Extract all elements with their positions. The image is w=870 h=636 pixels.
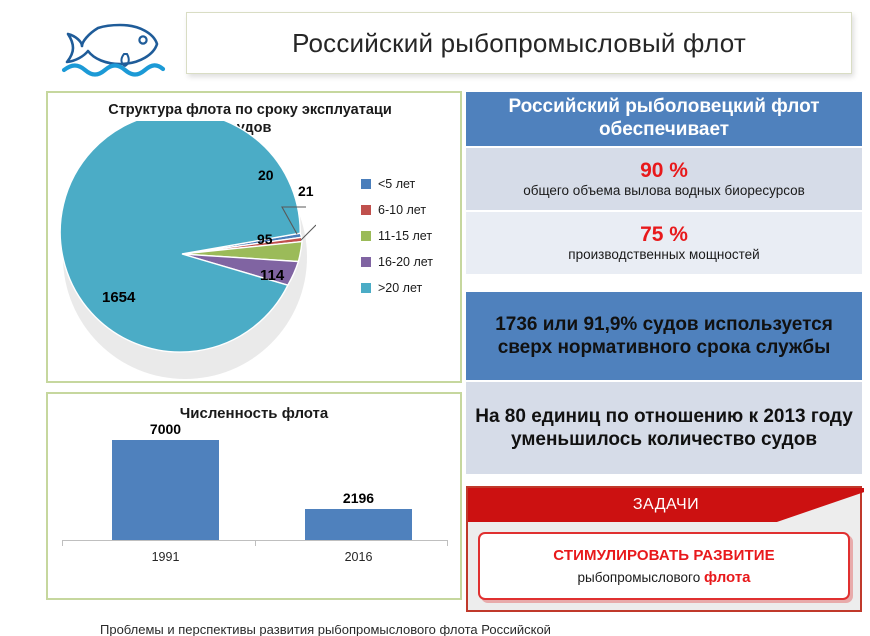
bar-chart-plot: 7000 1991 2196 2016 <box>62 434 448 564</box>
bar-chart-title: Численность флота <box>48 405 460 422</box>
tasks-sub-bold: флота <box>704 569 751 586</box>
pie-slice-label-under5: 20 <box>258 167 274 183</box>
legend-label: >20 лет <box>378 281 422 295</box>
tasks-main-label: СТИМУЛИРОВАТЬ РАЗВИТИЕ <box>553 547 774 564</box>
stat-panel-production-capacity: 75 % производственных мощностей <box>466 212 862 274</box>
axis-tick <box>447 540 448 546</box>
axis-tick <box>62 540 63 546</box>
tasks-sub-label: рыбопромыслового флота <box>577 569 750 586</box>
axis-tick <box>255 540 256 546</box>
bar-value-1991: 7000 <box>112 421 219 437</box>
legend-item-16-20: 16-20 лет <box>361 249 461 275</box>
footer-cut-label: Проблемы и перспективы развития рыбопром… <box>100 625 551 636</box>
bar-category-2016: 2016 <box>305 550 412 564</box>
legend-item-under5: <5 лет <box>361 171 461 197</box>
right-headline-panel: Российский рыболовецкий флот обеспечивае… <box>466 92 862 146</box>
bar-2016 <box>305 509 412 540</box>
legend-label: <5 лет <box>378 177 415 191</box>
page-title: Российский рыбопромысловый флот <box>292 28 746 59</box>
tasks-sub-plain: рыбопромыслового <box>577 570 703 585</box>
legend-item-over20: >20 лет <box>361 275 461 301</box>
pie-chart-card: Структура флота по сроку эксплуатаци суд… <box>46 91 462 383</box>
stat-caption: общего объема вылова водных биоресурсов <box>523 183 805 199</box>
legend-item-11-15: 11-15 лет <box>361 223 461 249</box>
pie-slice-label-6-10: 21 <box>298 183 314 199</box>
bar-category-1991: 1991 <box>112 550 219 564</box>
tasks-content-box: СТИМУЛИРОВАТЬ РАЗВИТИЕ рыбопромыслового … <box>478 532 850 600</box>
stat-percent: 75 % <box>640 223 688 247</box>
fact-panel-overage-vessels: 1736 или 91,9% судов используется сверх … <box>466 292 862 380</box>
pie-chart-legend: <5 лет 6-10 лет 11-15 лет 16-20 лет >20 … <box>361 171 461 301</box>
legend-swatch-icon <box>361 205 371 215</box>
bar-1991 <box>112 440 219 540</box>
page-header: Российский рыбопромысловый флот <box>0 0 870 86</box>
fish-logo-icon <box>58 14 170 80</box>
pie-slice-label-over20: 1654 <box>102 289 135 306</box>
fact-panel-fleet-reduction: На 80 единиц по отношению к 2013 году ум… <box>466 382 862 474</box>
pie-slice-label-11-15: 95 <box>257 231 273 247</box>
stat-caption: производственных мощностей <box>568 247 759 263</box>
footer-cut-text: Проблемы и перспективы развития рыбопром… <box>0 625 870 636</box>
legend-swatch-icon <box>361 283 371 293</box>
bar-value-2016: 2196 <box>305 490 412 506</box>
legend-swatch-icon <box>361 257 371 267</box>
tasks-card: ЗАДАЧИ СТИМУЛИРОВАТЬ РАЗВИТИЕ рыбопромыс… <box>466 486 862 612</box>
stat-percent: 90 % <box>640 159 688 183</box>
legend-label: 16-20 лет <box>378 255 433 269</box>
page-title-box: Российский рыбопромысловый флот <box>186 12 852 74</box>
pie-chart-graphic: 1654 114 95 21 20 <box>54 121 316 383</box>
legend-swatch-icon <box>361 231 371 241</box>
pie-slice-label-16-20: 114 <box>260 267 284 284</box>
legend-label: 6-10 лет <box>378 203 426 217</box>
stat-panel-catch-volume: 90 % общего объема вылова водных биоресу… <box>466 148 862 210</box>
legend-item-6-10: 6-10 лет <box>361 197 461 223</box>
bar-chart-card: Численность флота 7000 1991 2196 2016 <box>46 392 462 600</box>
tasks-banner-label: ЗАДАЧИ <box>468 488 864 522</box>
legend-swatch-icon <box>361 179 371 189</box>
legend-label: 11-15 лет <box>378 229 432 243</box>
